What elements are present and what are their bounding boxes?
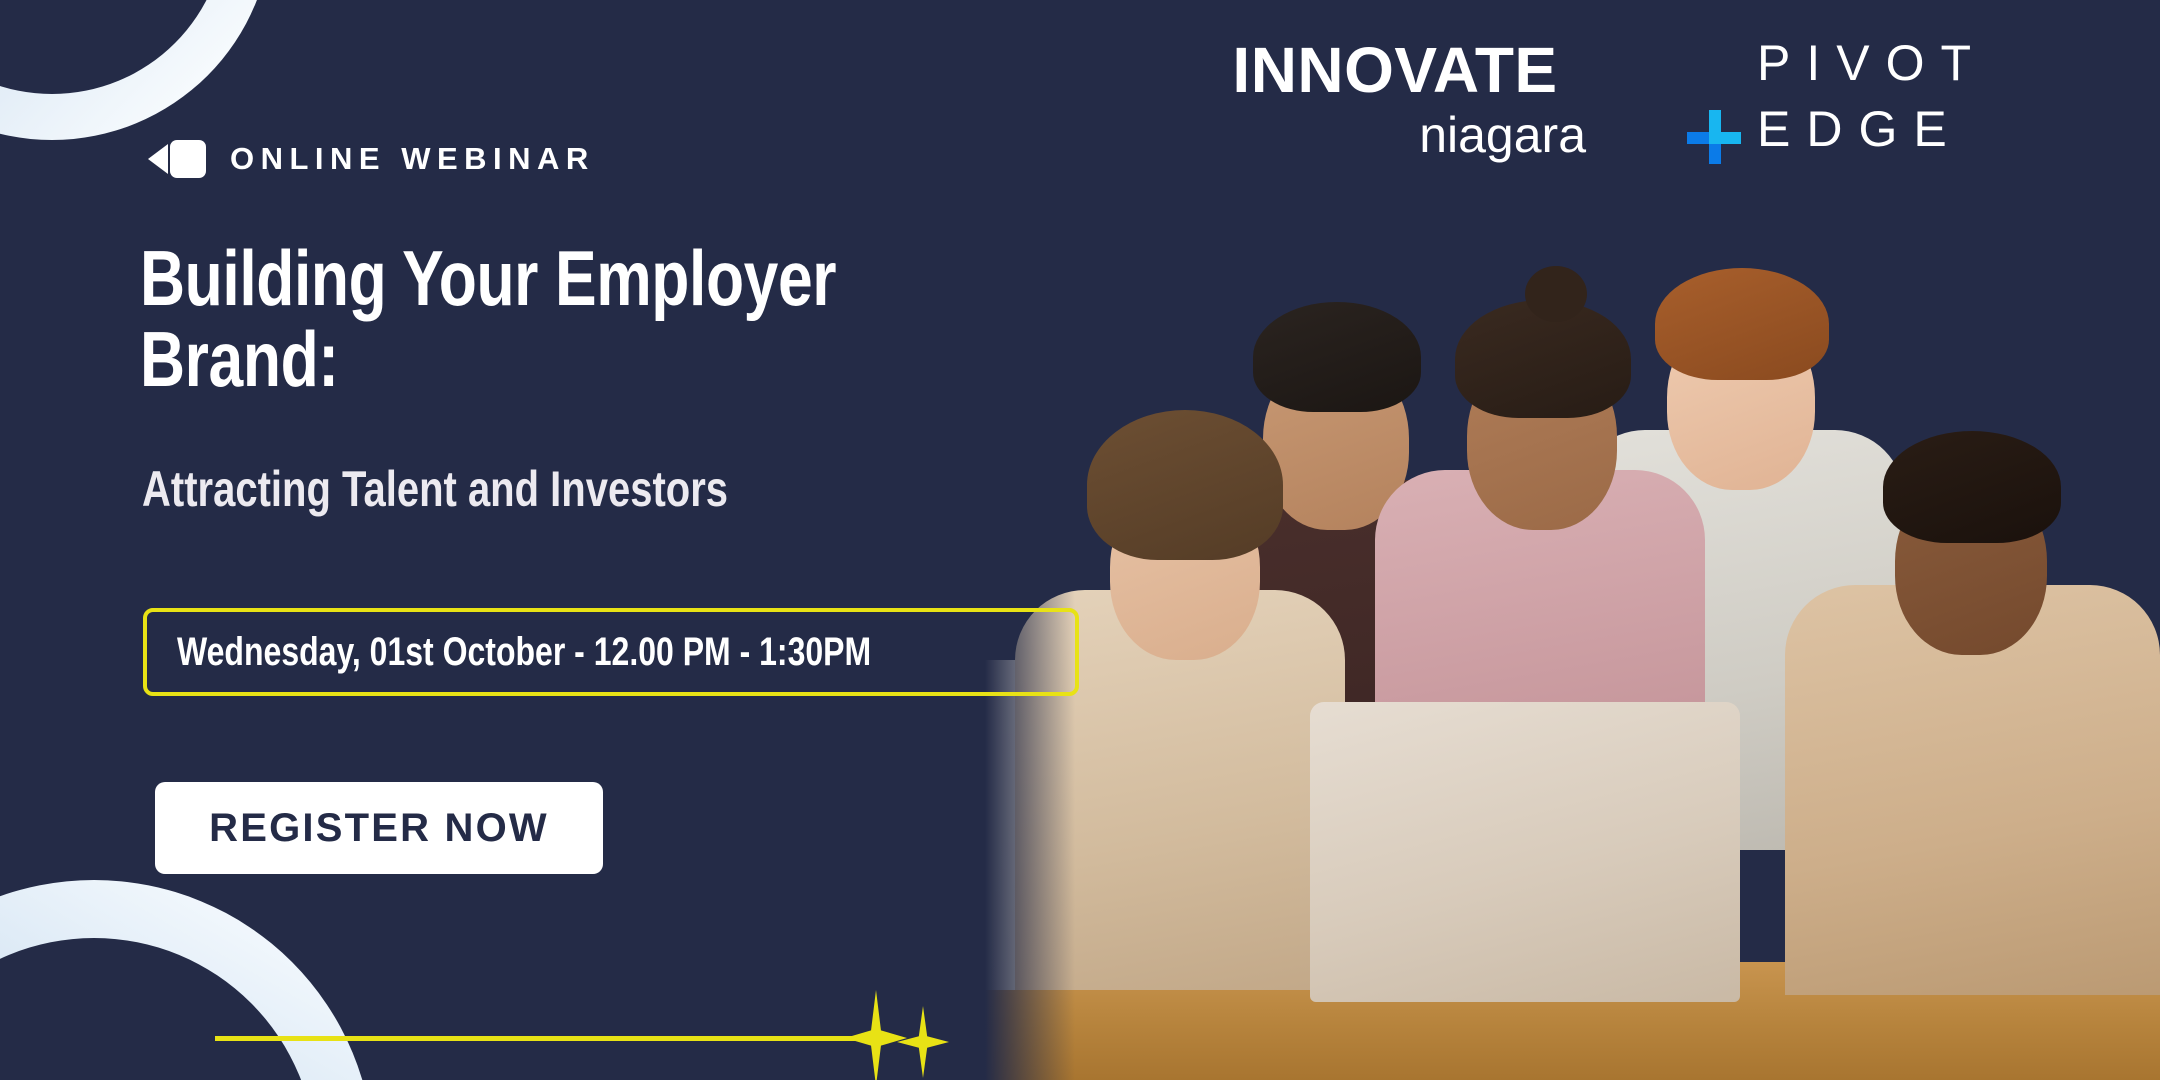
innovate-wordmark: INNOVATE (1232, 38, 1557, 102)
eyebrow-label: ONLINE WEBINAR (230, 141, 595, 177)
four-point-star-large-icon (845, 990, 907, 1080)
person-3-hair-bun (1525, 266, 1587, 322)
page-subtitle: Attracting Talent and Investors (142, 462, 1142, 517)
subtitle-text: Attracting Talent and Investors (142, 462, 942, 517)
laptop (1310, 702, 1740, 1002)
four-point-star-small-icon (897, 1006, 949, 1078)
sparkle-decoration (845, 990, 965, 1080)
innovate-niagara-logo: INNOVATE niagara (1200, 38, 1590, 163)
date-badge: Wednesday, 01st October - 12.00 PM - 1:3… (143, 608, 1079, 696)
video-camera-icon (148, 140, 206, 178)
person-5-hair (1883, 431, 2061, 543)
pivot-wordmark-line-1: PIVOT (1735, 30, 2065, 96)
pivot-plus-mark-icon (1687, 110, 1741, 164)
person-5 (1785, 375, 2160, 995)
register-now-label: REGISTER NOW (209, 806, 549, 851)
webinar-promo-banner: ONLINE WEBINAR Building Your Employer Br… (0, 0, 2160, 1080)
yellow-rule-decoration (215, 1036, 860, 1041)
bottom-left-arc-decoration (0, 880, 374, 1080)
eyebrow: ONLINE WEBINAR (148, 140, 595, 178)
page-title: Building Your Employer Brand: (140, 238, 1140, 400)
pivot-wordmark-line-2-wrap: EDGE (1735, 96, 2065, 162)
top-left-arc-decoration (0, 0, 272, 140)
title-line-2: Brand: (140, 319, 940, 400)
pivot-edge-logo: PIVOT EDGE (1735, 30, 2065, 162)
innovate-subword: niagara (1200, 108, 1590, 163)
pivot-wordmark-line-2: EDGE (1757, 101, 1963, 157)
date-badge-text: Wednesday, 01st October - 12.00 PM - 1:3… (177, 630, 871, 675)
register-now-button[interactable]: REGISTER NOW (155, 782, 603, 874)
title-line-1: Building Your Employer (140, 238, 940, 319)
